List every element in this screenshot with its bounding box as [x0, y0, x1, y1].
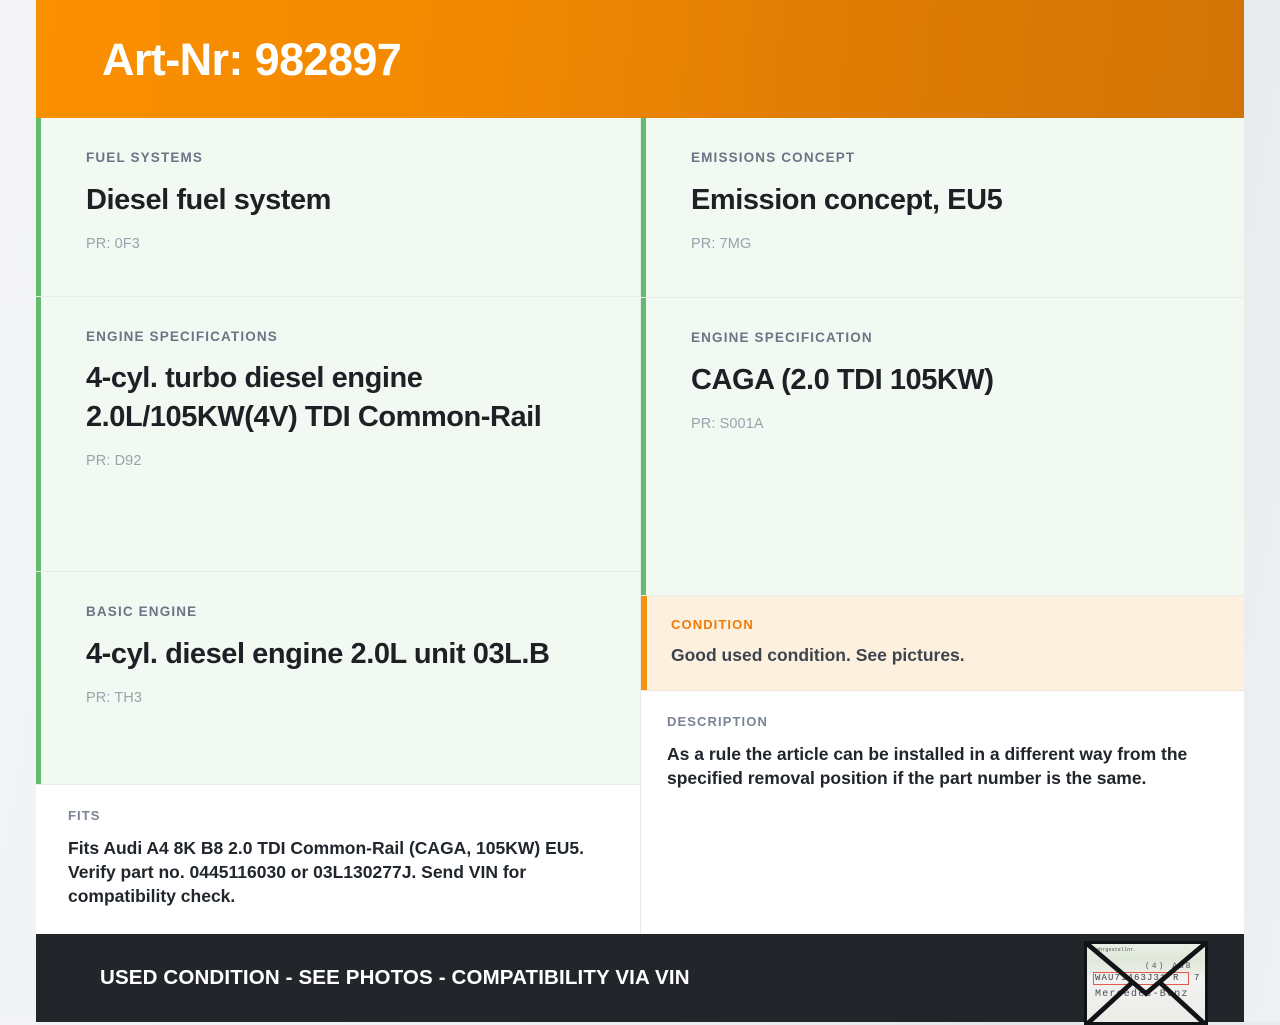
- condition-text: Good used condition. See pictures.: [671, 644, 1214, 667]
- condition-label: CONDITION: [671, 618, 1214, 631]
- fits-label: FITS: [68, 809, 610, 822]
- envelope-icon[interactable]: Fahrgestellnr. (4) AuB WAU71463J31 R 7 M…: [1084, 941, 1208, 1025]
- spec-label: EMISSIONS CONCEPT: [691, 151, 1214, 165]
- fits-section: FITS Fits Audi A4 8K B8 2.0 TDI Common-R…: [36, 785, 640, 934]
- spec-pr-code: PR: S001A: [691, 417, 1214, 432]
- spec-value: Emission concept, EU5: [691, 181, 1214, 220]
- left-column: FUEL SYSTEMS Diesel fuel system PR: 0F3 …: [36, 118, 640, 934]
- vin-document-image: Fahrgestellnr. (4) AuB WAU71463J31 R 7 M…: [1087, 944, 1205, 1022]
- spec-card-basic-engine: BASIC ENGINE 4-cyl. diesel engine 2.0L u…: [36, 572, 640, 784]
- listing-body: FUEL SYSTEMS Diesel fuel system PR: 0F3 …: [36, 118, 1244, 934]
- spec-value: Diesel fuel system: [86, 181, 610, 220]
- spec-label: ENGINE SPECIFICATIONS: [86, 330, 610, 344]
- right-column-spacer: [641, 816, 1244, 934]
- spec-card-engine-specification: ENGINE SPECIFICATION CAGA (2.0 TDI 105KW…: [641, 298, 1244, 596]
- spec-card-fuel-systems: FUEL SYSTEMS Diesel fuel system PR: 0F3: [36, 118, 640, 297]
- spec-pr-code: PR: TH3: [86, 691, 610, 706]
- vin-number-tail: 7: [1194, 973, 1199, 983]
- description-text: As a rule the article can be installed i…: [667, 742, 1208, 790]
- spec-label: FUEL SYSTEMS: [86, 151, 610, 165]
- listing-header: Art-Nr: 982897: [36, 0, 1244, 118]
- spec-pr-code: PR: 7MG: [691, 237, 1214, 252]
- description-label: DESCRIPTION: [667, 715, 1208, 728]
- vin-doc-row1: (4) AuB: [1145, 962, 1193, 971]
- spec-pr-code: PR: 0F3: [86, 237, 610, 252]
- spec-card-engine-specifications: ENGINE SPECIFICATIONS 4-cyl. turbo diese…: [36, 297, 640, 573]
- spec-value: 4-cyl. diesel engine 2.0L unit 03L.B: [86, 635, 610, 674]
- condition-box: CONDITION Good used condition. See pictu…: [641, 596, 1244, 691]
- spec-pr-code: PR: D92: [86, 454, 610, 469]
- listing-footer: USED CONDITION - SEE PHOTOS - COMPATIBIL…: [36, 934, 1244, 1022]
- vin-doc-brand: Mercedes-Benz: [1095, 989, 1189, 1000]
- right-column: EMISSIONS CONCEPT Emission concept, EU5 …: [640, 118, 1244, 934]
- spec-card-emissions-concept: EMISSIONS CONCEPT Emission concept, EU5 …: [641, 118, 1244, 298]
- spec-value: CAGA (2.0 TDI 105KW): [691, 361, 1214, 400]
- page-title: Art-Nr: 982897: [102, 37, 401, 82]
- vin-doc-caption: Fahrgestellnr.: [1093, 947, 1136, 953]
- footer-banner-text: USED CONDITION - SEE PHOTOS - COMPATIBIL…: [100, 968, 690, 989]
- vin-number: WAU71463J31 R: [1095, 973, 1180, 983]
- description-section: DESCRIPTION As a rule the article can be…: [641, 691, 1244, 816]
- fits-text: Fits Audi A4 8K B8 2.0 TDI Common-Rail (…: [68, 836, 610, 908]
- spec-value: 4-cyl. turbo diesel engine 2.0L/105KW(4V…: [86, 359, 610, 436]
- spec-label: ENGINE SPECIFICATION: [691, 331, 1214, 345]
- listing-sheet: Art-Nr: 982897 FUEL SYSTEMS Diesel fuel …: [36, 0, 1244, 1022]
- spec-label: BASIC ENGINE: [86, 605, 610, 619]
